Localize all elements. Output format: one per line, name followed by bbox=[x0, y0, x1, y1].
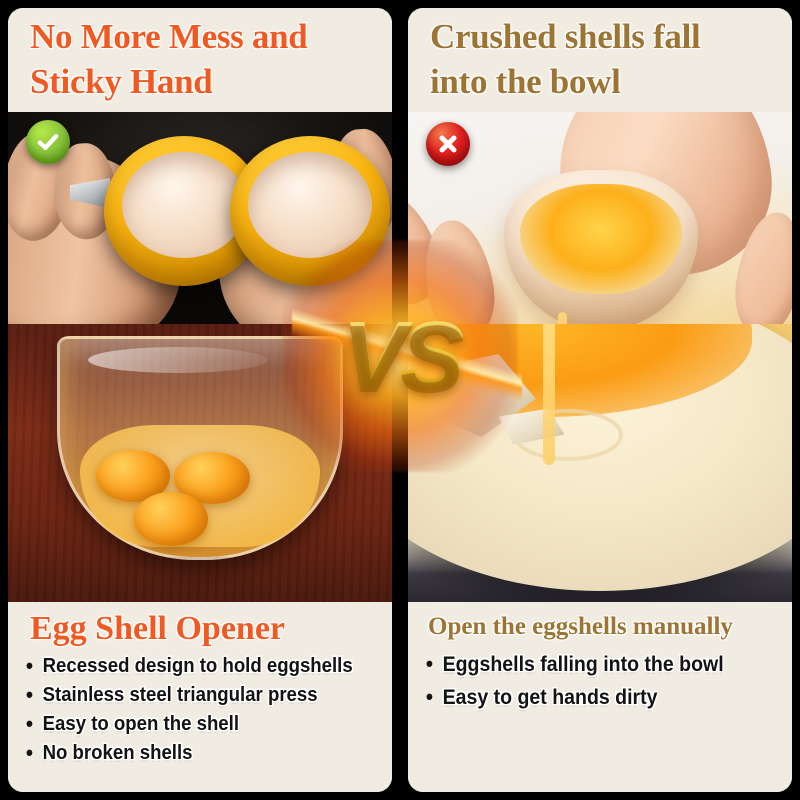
right-headline: Crushed shells fall into the bowl bbox=[408, 8, 792, 112]
check-icon bbox=[26, 120, 70, 164]
list-item: Eggshells falling into the bowl bbox=[424, 648, 757, 681]
left-headline: No More Mess and Sticky Hand bbox=[8, 8, 392, 112]
left-headline-line-2: Sticky Hand bbox=[30, 59, 378, 104]
egg-yolk bbox=[134, 492, 208, 546]
left-benefit-list: Recessed design to hold eggshells Stainl… bbox=[24, 652, 382, 768]
cracked-eggshell bbox=[504, 170, 698, 324]
egg-yolk bbox=[520, 184, 682, 294]
right-copy-block: Open the eggshells manually Eggshells fa… bbox=[408, 602, 792, 792]
right-drawback-list: Eggshells falling into the bowl Easy to … bbox=[424, 648, 782, 714]
list-item: Easy to get hands dirty bbox=[424, 681, 757, 714]
right-subtitle: Open the eggshells manually bbox=[424, 608, 782, 646]
list-item: Stainless steel triangular press bbox=[24, 681, 357, 710]
egg-white-pour bbox=[543, 324, 555, 465]
cross-icon bbox=[426, 122, 470, 166]
egg-white-drip bbox=[558, 312, 567, 324]
comparison-infographic: No More Mess and Sticky Hand bbox=[0, 0, 800, 800]
vs-label: VS bbox=[328, 286, 472, 426]
eggshell-half bbox=[122, 152, 246, 258]
list-item: No broken shells bbox=[24, 739, 357, 768]
vs-badge: VS bbox=[328, 286, 472, 426]
left-subtitle: Egg Shell Opener bbox=[24, 608, 382, 650]
right-headline-line-2: into the bowl bbox=[430, 59, 778, 104]
left-copy-block: Egg Shell Opener Recessed design to hold… bbox=[8, 602, 392, 792]
list-item: Easy to open the shell bbox=[24, 710, 357, 739]
list-item: Recessed design to hold eggshells bbox=[24, 652, 357, 681]
right-headline-line-1: Crushed shells fall bbox=[430, 14, 778, 59]
left-headline-line-1: No More Mess and bbox=[30, 14, 378, 59]
